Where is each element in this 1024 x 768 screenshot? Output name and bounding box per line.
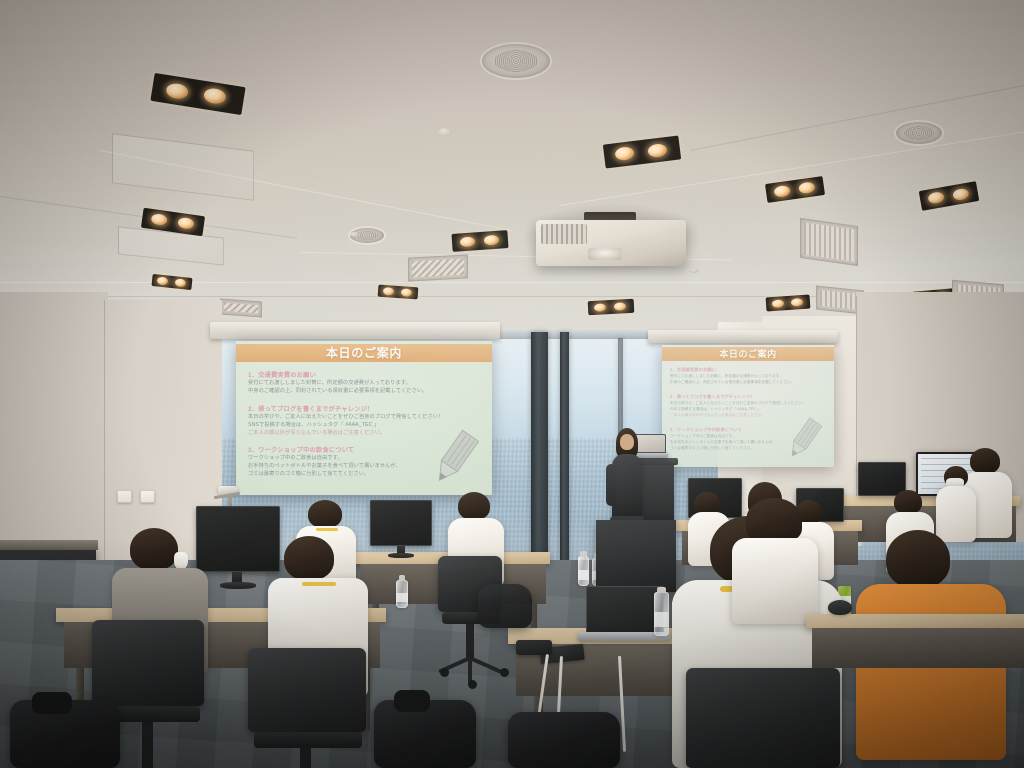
attendee-hair [458, 492, 490, 520]
ceiling-panel [118, 226, 224, 265]
attendee-hair [746, 498, 802, 542]
slide-title: 本日のご案内 [236, 344, 492, 362]
ceiling-speaker [896, 122, 942, 144]
slide-section-heading: 2．帰ってブログを書くまでがチャレンジ！ [248, 404, 374, 413]
slide-section-heading: 1．交通費実費のお願い [670, 367, 716, 373]
power-bank [516, 640, 552, 655]
lanyard [316, 528, 338, 531]
slide-section-line: 本日の学びや、ご友人に伝えたいことをぜひご自身のブログで発信してください！ [248, 413, 443, 420]
slide-section-line: ゴミは最寄りのゴミ箱に分別して捨ててください。 [248, 470, 369, 477]
ceiling-projector [536, 212, 686, 274]
attendee-body [732, 538, 818, 624]
secondary-projection-screen: 本日のご案内 1．交通費実費のお願い 受付にてお渡ししました封筒に、所定額の交通… [662, 345, 834, 467]
slide-section-line: お手持ちのペットボトルやお菓子を食べて頂いて構いませんが、 [670, 440, 776, 445]
ceiling-downlight [603, 135, 681, 168]
attendee-body [856, 584, 1006, 760]
av-cabinet [596, 520, 676, 592]
ceiling-panel [112, 133, 254, 200]
slide-section-line: ワークショップ中のご飲食は自由です。 [670, 434, 736, 439]
smoke-detector [350, 232, 359, 237]
ceiling-downlight [919, 181, 980, 211]
presenter-arm [606, 464, 616, 506]
lanyard [302, 582, 336, 586]
ceiling-speaker [482, 44, 550, 78]
slide-section-line: SNSで投稿する場合は、ハッシュタグ「 #AAA_TEC 」 [248, 421, 379, 428]
slide-section-line: SNSで投稿する場合は、ハッシュタグ「 #AAA_TEC 」 [670, 407, 761, 412]
seminar-room-photo: 本日のご案内 1．交通費実費のお願い 受付にてお渡ししました封筒に、所定額の交通… [0, 0, 1024, 768]
presenter-head [620, 434, 634, 450]
main-projection-screen: 本日のご案内 1．交通費実費のお願い 受付にてお渡ししました封筒に、所定額の交通… [236, 341, 492, 495]
monitor [370, 500, 432, 546]
window-mullion [560, 332, 569, 582]
backpack [508, 712, 620, 768]
attendee-hair [308, 500, 342, 528]
pencil-icon [426, 427, 484, 489]
smoke-detector [438, 128, 452, 136]
webcam [208, 486, 248, 508]
pencil-icon [782, 415, 826, 463]
ceiling-downlight [451, 230, 508, 252]
attendee-hair [886, 530, 950, 588]
ceiling-air-vent [800, 218, 858, 266]
projector-lens [588, 248, 622, 260]
monitor [858, 462, 906, 496]
slide-section-line: ゴミは最寄りのゴミ箱に分別して捨ててください。 [670, 446, 754, 451]
slide-section-heading: 1．交通費実費のお願い [248, 370, 316, 379]
slide-section-heading: 3．ワークショップ中の飲食について [248, 445, 354, 454]
slide-section-line: 中身のご確認の上、同封されている領収書に必要事項を記載してください。 [248, 387, 427, 394]
smoke-detector [690, 268, 699, 273]
slide-section-line: 受付にてお渡ししました封筒に、所定額の交通費が入っております。 [670, 374, 783, 379]
projector-vent [541, 224, 587, 244]
cabinet-top [0, 540, 98, 550]
ceiling-downlight [765, 176, 825, 203]
slide-surface: 本日のご案内 1．交通費実費のお願い 受付にてお渡ししました封筒に、所定額の交通… [662, 345, 834, 467]
backpack [10, 700, 120, 768]
attendee-hair [130, 528, 178, 570]
backpack [478, 584, 532, 628]
wall-seam [104, 300, 105, 600]
monitor-screen [196, 506, 280, 572]
laptop-lid [586, 586, 664, 636]
slide-section-line: お手持ちのペットボトルやお菓子を食べて頂いて構いませんが、 [248, 462, 401, 469]
light-switch[interactable] [140, 490, 155, 503]
ceiling-downlight [151, 274, 192, 290]
monitor-screen [370, 500, 432, 546]
slide-section-line: 受付にてお渡ししました封筒に、所定額の交通費が入っております。 [248, 379, 411, 386]
slide-title: 本日のご案内 [662, 347, 834, 361]
screen-housing [210, 322, 500, 339]
slide-section-line: 本日の学びや、ご友人に伝えたいことをぜひご自身のブログで発信してください！ [670, 401, 805, 406]
water-bottle [578, 556, 589, 586]
monitor [196, 506, 280, 572]
slide-section-line: ご本人の顔以外が写り込んでいる場合はご注意ください。 [248, 429, 385, 436]
ceiling-air-vent [408, 254, 468, 281]
slide-section-heading: 2．帰ってブログを書くまでがチャレンジ！ [670, 394, 755, 400]
water-bottle [654, 592, 669, 636]
slide-section-line: ワークショップ中のご飲食は自由です。 [248, 454, 343, 461]
monitor-screen [858, 462, 906, 496]
light-switch[interactable] [117, 490, 132, 503]
slide-section-heading: 3．ワークショップ中の飲食について [670, 427, 742, 433]
slide-section-line: ご本人の顔以外が写り込んでいる場合はご注意ください。 [670, 413, 765, 418]
ceiling-downlight [588, 299, 635, 315]
presenter-body [612, 454, 642, 520]
slide-section-line: 中身のご確認の上、同封されている領収書に必要事項を記載してください。 [670, 380, 794, 385]
desk [806, 614, 1024, 628]
computer-mouse [828, 600, 852, 615]
water-bottle [396, 580, 408, 608]
ceiling-air-vent [220, 299, 262, 318]
screen-housing [648, 330, 838, 343]
attendee-hair [284, 536, 334, 580]
desk-panel [812, 628, 1024, 668]
slide-surface: 本日のご案内 1．交通費実費のお願い 受付にてお渡ししました封筒に、所定額の交通… [236, 341, 492, 495]
backpack [374, 700, 476, 768]
ceiling [0, 0, 1024, 330]
ceiling-downlight [766, 294, 811, 311]
ceiling-downlight [150, 73, 245, 115]
ceiling-downlight [378, 285, 419, 300]
